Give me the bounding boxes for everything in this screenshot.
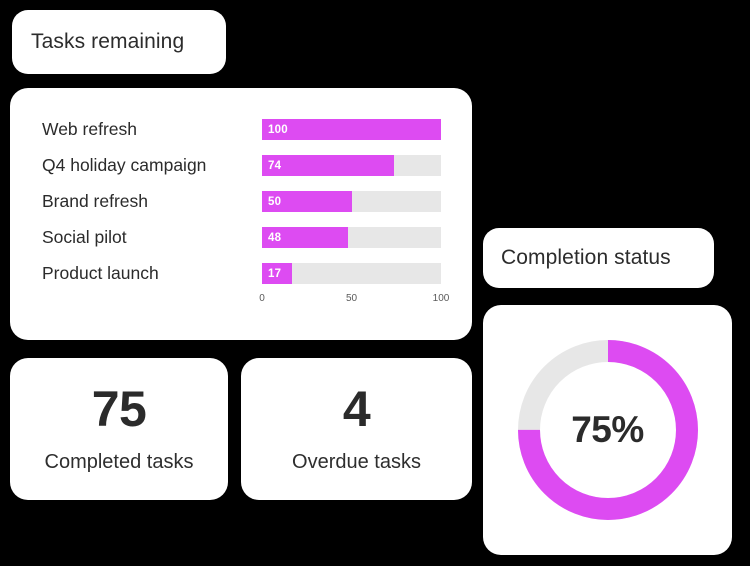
bar-category-label: Brand refresh bbox=[42, 188, 254, 214]
bar-track: 17 bbox=[262, 263, 441, 284]
donut-center-value: 75% bbox=[510, 332, 706, 528]
tasks-remaining-title-pill: Tasks remaining bbox=[12, 10, 226, 74]
bar-value-label: 17 bbox=[268, 263, 281, 284]
bar-value-label: 74 bbox=[268, 155, 281, 176]
bar-value-label: 48 bbox=[268, 227, 281, 248]
bar-chart-row[interactable]: Social pilot48 bbox=[10, 224, 472, 250]
bar-track: 100 bbox=[262, 119, 441, 140]
bar-fill bbox=[262, 155, 394, 176]
bar-category-label: Web refresh bbox=[42, 116, 254, 142]
bar-track: 74 bbox=[262, 155, 441, 176]
dashboard-canvas: Tasks remaining Web refresh100Q4 holiday… bbox=[0, 0, 750, 566]
bar-chart-x-axis: 050100 bbox=[262, 293, 441, 307]
completion-status-title: Completion status bbox=[501, 246, 671, 270]
x-axis-tick-label: 100 bbox=[433, 293, 450, 304]
bar-chart-plot-area: Web refresh100Q4 holiday campaign74Brand… bbox=[10, 88, 472, 340]
tasks-remaining-bar-chart-card[interactable]: Web refresh100Q4 holiday campaign74Brand… bbox=[10, 88, 472, 340]
tasks-remaining-title: Tasks remaining bbox=[31, 30, 184, 54]
x-axis-tick-label: 50 bbox=[346, 293, 357, 304]
completion-status-donut-card[interactable]: 75% bbox=[483, 305, 732, 555]
bar-value-label: 100 bbox=[268, 119, 288, 140]
bar-chart-row[interactable]: Q4 holiday campaign74 bbox=[10, 152, 472, 178]
overdue-tasks-label: Overdue tasks bbox=[292, 451, 421, 474]
donut-chart: 75% bbox=[510, 332, 706, 528]
bar-value-label: 50 bbox=[268, 191, 281, 212]
completed-tasks-value: 75 bbox=[92, 384, 147, 434]
bar-chart-row[interactable]: Brand refresh50 bbox=[10, 188, 472, 214]
completed-tasks-card[interactable]: 75 Completed tasks bbox=[10, 358, 228, 500]
bar-track: 50 bbox=[262, 191, 441, 212]
overdue-tasks-card[interactable]: 4 Overdue tasks bbox=[241, 358, 472, 500]
bar-category-label: Q4 holiday campaign bbox=[42, 152, 254, 178]
bar-fill bbox=[262, 119, 441, 140]
bar-chart-row[interactable]: Product launch17 bbox=[10, 260, 472, 286]
overdue-tasks-value: 4 bbox=[343, 384, 370, 434]
completion-status-title-pill: Completion status bbox=[483, 228, 714, 288]
bar-category-label: Social pilot bbox=[42, 224, 254, 250]
completed-tasks-label: Completed tasks bbox=[45, 451, 194, 474]
bar-category-label: Product launch bbox=[42, 260, 254, 286]
bar-chart-row[interactable]: Web refresh100 bbox=[10, 116, 472, 142]
x-axis-tick-label: 0 bbox=[259, 293, 265, 304]
bar-track: 48 bbox=[262, 227, 441, 248]
